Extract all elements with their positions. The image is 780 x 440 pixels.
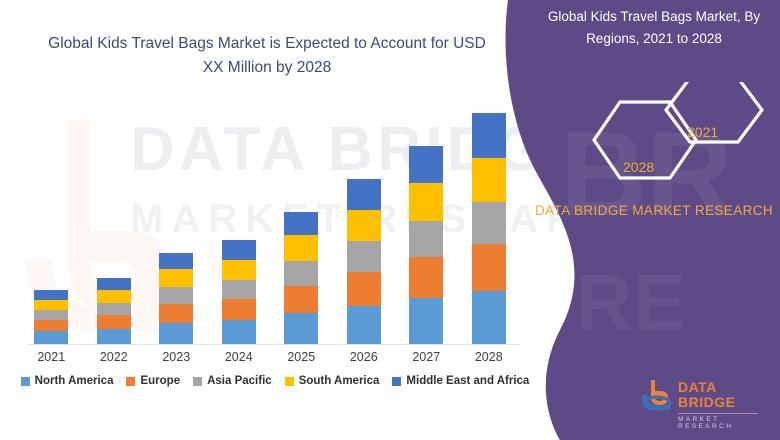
stacked-bar-2021[interactable] bbox=[34, 290, 68, 344]
x-axis-label-2025: 2025 bbox=[270, 350, 333, 364]
bar-segment[interactable] bbox=[222, 320, 256, 344]
stacked-bar-2028[interactable] bbox=[472, 113, 506, 344]
company-logo-sub: MARKET RESEARCH bbox=[678, 416, 770, 430]
legend-item[interactable]: North America bbox=[21, 375, 114, 387]
company-logo-mark-icon bbox=[640, 378, 674, 412]
bar-segment[interactable] bbox=[347, 306, 381, 344]
x-axis-label-2022: 2022 bbox=[83, 350, 146, 364]
legend-swatch-icon bbox=[193, 377, 202, 386]
company-logo: DATA BRIDGE MARKET RESEARCH bbox=[640, 378, 770, 418]
x-axis-line bbox=[28, 344, 520, 345]
bar-segment[interactable] bbox=[347, 272, 381, 306]
hexagon-2021-label: 2021 bbox=[687, 124, 718, 140]
bar-segment[interactable] bbox=[34, 320, 68, 331]
legend-swatch-icon bbox=[392, 377, 401, 386]
hexagon-group: 2021 2028 bbox=[580, 82, 770, 192]
legend-item[interactable]: Europe bbox=[126, 375, 180, 387]
legend-item[interactable]: Middle East and Africa bbox=[392, 375, 529, 387]
bar-slot bbox=[145, 95, 208, 344]
bar-segment[interactable] bbox=[34, 331, 68, 344]
bar-segment[interactable] bbox=[159, 323, 193, 344]
bar-slot bbox=[333, 95, 396, 344]
bar-segment[interactable] bbox=[409, 221, 443, 258]
bar-segment[interactable] bbox=[472, 202, 506, 245]
bar-segment[interactable] bbox=[472, 244, 506, 291]
stacked-bar-2024[interactable] bbox=[222, 240, 256, 344]
bar-group bbox=[20, 95, 520, 344]
bar-segment[interactable] bbox=[97, 278, 131, 290]
company-logo-text: DATA BRIDGE MARKET RESEARCH bbox=[678, 380, 770, 430]
infographic-canvas: DATA BRIDGE MARKET RESEARCH Global Kids … bbox=[0, 0, 780, 440]
brand-panel-title: Global Kids Travel Bags Market, By Regio… bbox=[532, 6, 776, 51]
x-axis-label-2027: 2027 bbox=[395, 350, 458, 364]
stacked-bar-2023[interactable] bbox=[159, 253, 193, 344]
legend-item[interactable]: Asia Pacific bbox=[193, 375, 272, 387]
legend-label: Europe bbox=[140, 375, 180, 387]
bar-segment[interactable] bbox=[222, 280, 256, 299]
brand-name: DATA BRIDGE MARKET RESEARCH bbox=[530, 200, 778, 222]
legend-label: Asia Pacific bbox=[207, 375, 272, 387]
bar-segment[interactable] bbox=[409, 257, 443, 298]
stacked-bar-2025[interactable] bbox=[284, 212, 318, 344]
legend-label: South America bbox=[299, 375, 380, 387]
legend-label: Middle East and Africa bbox=[406, 375, 529, 387]
plot-area bbox=[20, 95, 520, 345]
bar-segment[interactable] bbox=[222, 299, 256, 320]
bar-segment[interactable] bbox=[409, 146, 443, 183]
bar-segment[interactable] bbox=[34, 290, 68, 300]
company-logo-divider bbox=[678, 413, 758, 414]
bar-segment[interactable] bbox=[97, 303, 131, 315]
bar-segment[interactable] bbox=[159, 269, 193, 287]
brand-panel-content: Global Kids Travel Bags Market, By Regio… bbox=[520, 0, 780, 440]
bar-segment[interactable] bbox=[284, 235, 318, 261]
stacked-bar-2027[interactable] bbox=[409, 146, 443, 344]
x-axis-labels: 20212022202320242025202620272028 bbox=[20, 350, 520, 364]
bar-segment[interactable] bbox=[472, 113, 506, 158]
bar-segment[interactable] bbox=[159, 287, 193, 304]
bar-segment[interactable] bbox=[34, 300, 68, 310]
bar-slot bbox=[208, 95, 271, 344]
bar-segment[interactable] bbox=[222, 240, 256, 260]
legend-swatch-icon bbox=[126, 377, 135, 386]
x-axis-label-2023: 2023 bbox=[145, 350, 208, 364]
hexagon-2028-label: 2028 bbox=[623, 159, 654, 175]
bar-segment[interactable] bbox=[347, 241, 381, 272]
legend-swatch-icon bbox=[285, 377, 294, 386]
bar-slot bbox=[458, 95, 521, 344]
bar-segment[interactable] bbox=[409, 183, 443, 221]
bar-segment[interactable] bbox=[284, 261, 318, 286]
bar-segment[interactable] bbox=[159, 304, 193, 323]
bar-segment[interactable] bbox=[472, 158, 506, 202]
bar-segment[interactable] bbox=[347, 210, 381, 242]
company-logo-main: DATA BRIDGE bbox=[678, 380, 770, 411]
bar-slot bbox=[20, 95, 83, 344]
bar-segment[interactable] bbox=[97, 290, 131, 303]
bar-segment[interactable] bbox=[472, 291, 506, 344]
bar-segment[interactable] bbox=[159, 253, 193, 269]
bar-segment[interactable] bbox=[97, 315, 131, 329]
bar-segment[interactable] bbox=[284, 313, 318, 344]
bar-segment[interactable] bbox=[347, 179, 381, 210]
chart-panel: DATA BRIDGE MARKET RESEARCH Global Kids … bbox=[0, 0, 560, 440]
bar-segment[interactable] bbox=[409, 298, 443, 344]
bar-segment[interactable] bbox=[97, 329, 131, 344]
x-axis-label-2026: 2026 bbox=[333, 350, 396, 364]
bar-segment[interactable] bbox=[222, 260, 256, 280]
chart-title: Global Kids Travel Bags Market is Expect… bbox=[42, 32, 492, 80]
legend-label: North America bbox=[35, 375, 114, 387]
legend-item[interactable]: South America bbox=[285, 375, 380, 387]
bar-slot bbox=[83, 95, 146, 344]
bar-segment[interactable] bbox=[34, 310, 68, 320]
x-axis-label-2021: 2021 bbox=[20, 350, 83, 364]
x-axis-label-2024: 2024 bbox=[208, 350, 271, 364]
legend-swatch-icon bbox=[21, 377, 30, 386]
chart-legend: North AmericaEuropeAsia PacificSouth Ame… bbox=[20, 375, 530, 387]
stacked-bar-2026[interactable] bbox=[347, 179, 381, 344]
bar-segment[interactable] bbox=[284, 286, 318, 313]
x-axis-label-2028: 2028 bbox=[458, 350, 521, 364]
bar-segment[interactable] bbox=[284, 212, 318, 236]
stacked-bar-2022[interactable] bbox=[97, 278, 131, 344]
bar-slot bbox=[270, 95, 333, 344]
bar-slot bbox=[395, 95, 458, 344]
